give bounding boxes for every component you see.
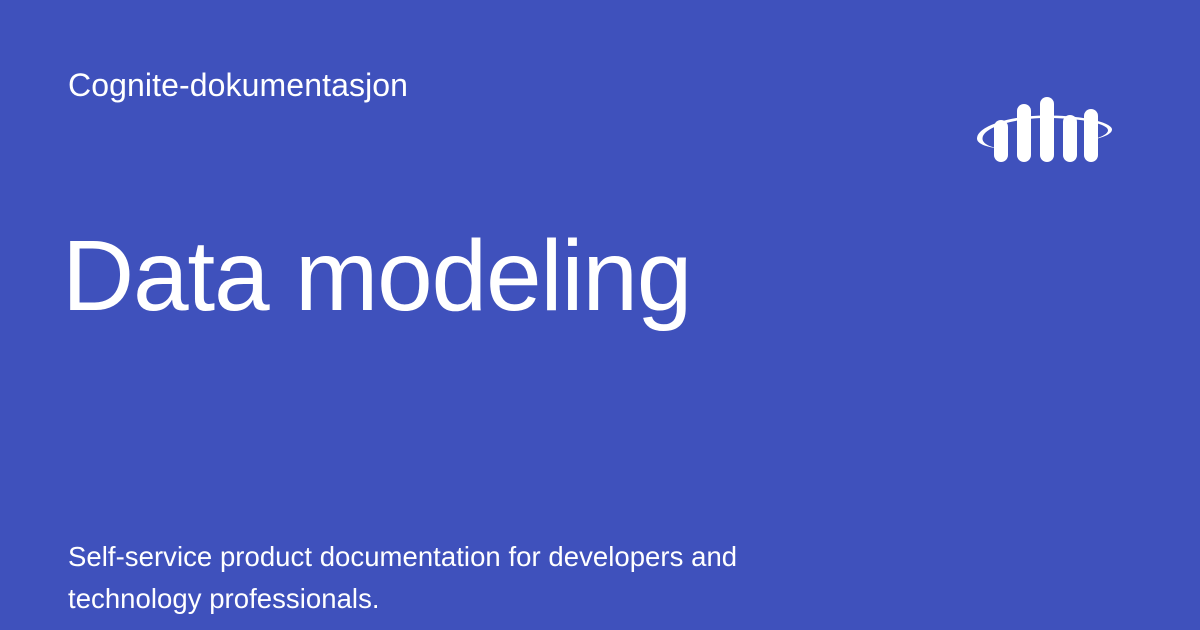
page-title: Data modeling: [62, 217, 691, 335]
card-description: Self-service product documentation for d…: [68, 536, 858, 620]
cognite-logo: [972, 96, 1116, 168]
card-eyebrow: Cognite-dokumentasjon: [68, 64, 408, 106]
card-content: Cognite-dokumentasjon Data modeling Self…: [68, 0, 928, 630]
logo-bars: [994, 97, 1098, 162]
social-card: Cognite-dokumentasjon Data modeling Self…: [0, 0, 1200, 630]
